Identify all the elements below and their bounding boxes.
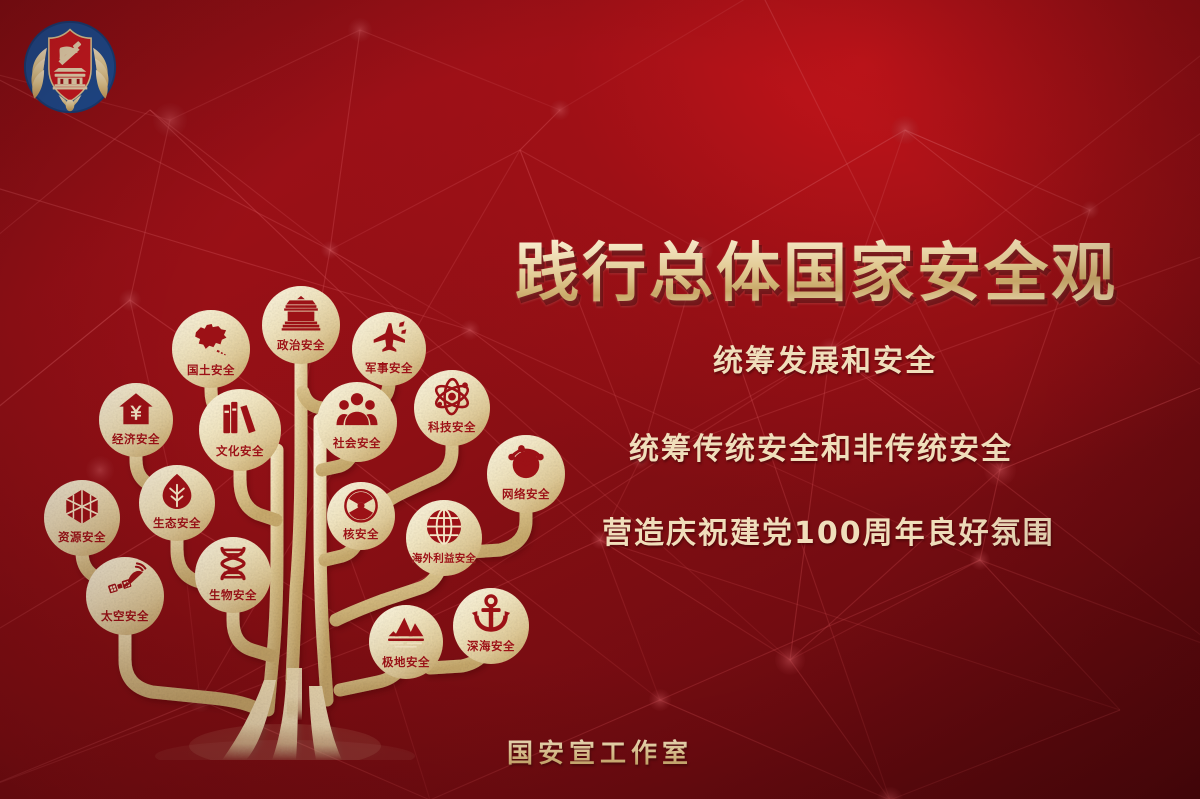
subtitle-line-3: 营造庆祝建党100周年良好氛围	[602, 508, 1055, 552]
tree-node-circle-keji[interactable]	[414, 370, 490, 446]
national-security-tree	[0, 120, 620, 760]
tree-node-circle-wenhua[interactable]	[199, 389, 281, 471]
main-title: 践行总体国家安全观	[515, 231, 1175, 317]
tree-node-circle-shengwu[interactable]	[195, 537, 271, 613]
tree-node-circle-guotu[interactable]	[172, 310, 250, 388]
main-title-text: 践行总体国家安全观	[515, 231, 1175, 317]
footer-credit: 国安宣工作室	[0, 733, 1200, 770]
tree-node-circle-jidi[interactable]	[369, 605, 443, 679]
subtitle-line-2: 统筹传统安全和非传统安全	[629, 424, 1013, 468]
tree-node-circle-taikong[interactable]	[86, 557, 164, 635]
globe-grid-icon	[427, 510, 461, 544]
police-national-emblem	[22, 19, 118, 115]
subtitle-line-1: 统筹发展和安全	[713, 336, 937, 380]
poster-canvas: 国土安全政治安全军事安全经济安全文化安全社会安全科技安全资源安全生态安全网络安全…	[0, 0, 1200, 799]
